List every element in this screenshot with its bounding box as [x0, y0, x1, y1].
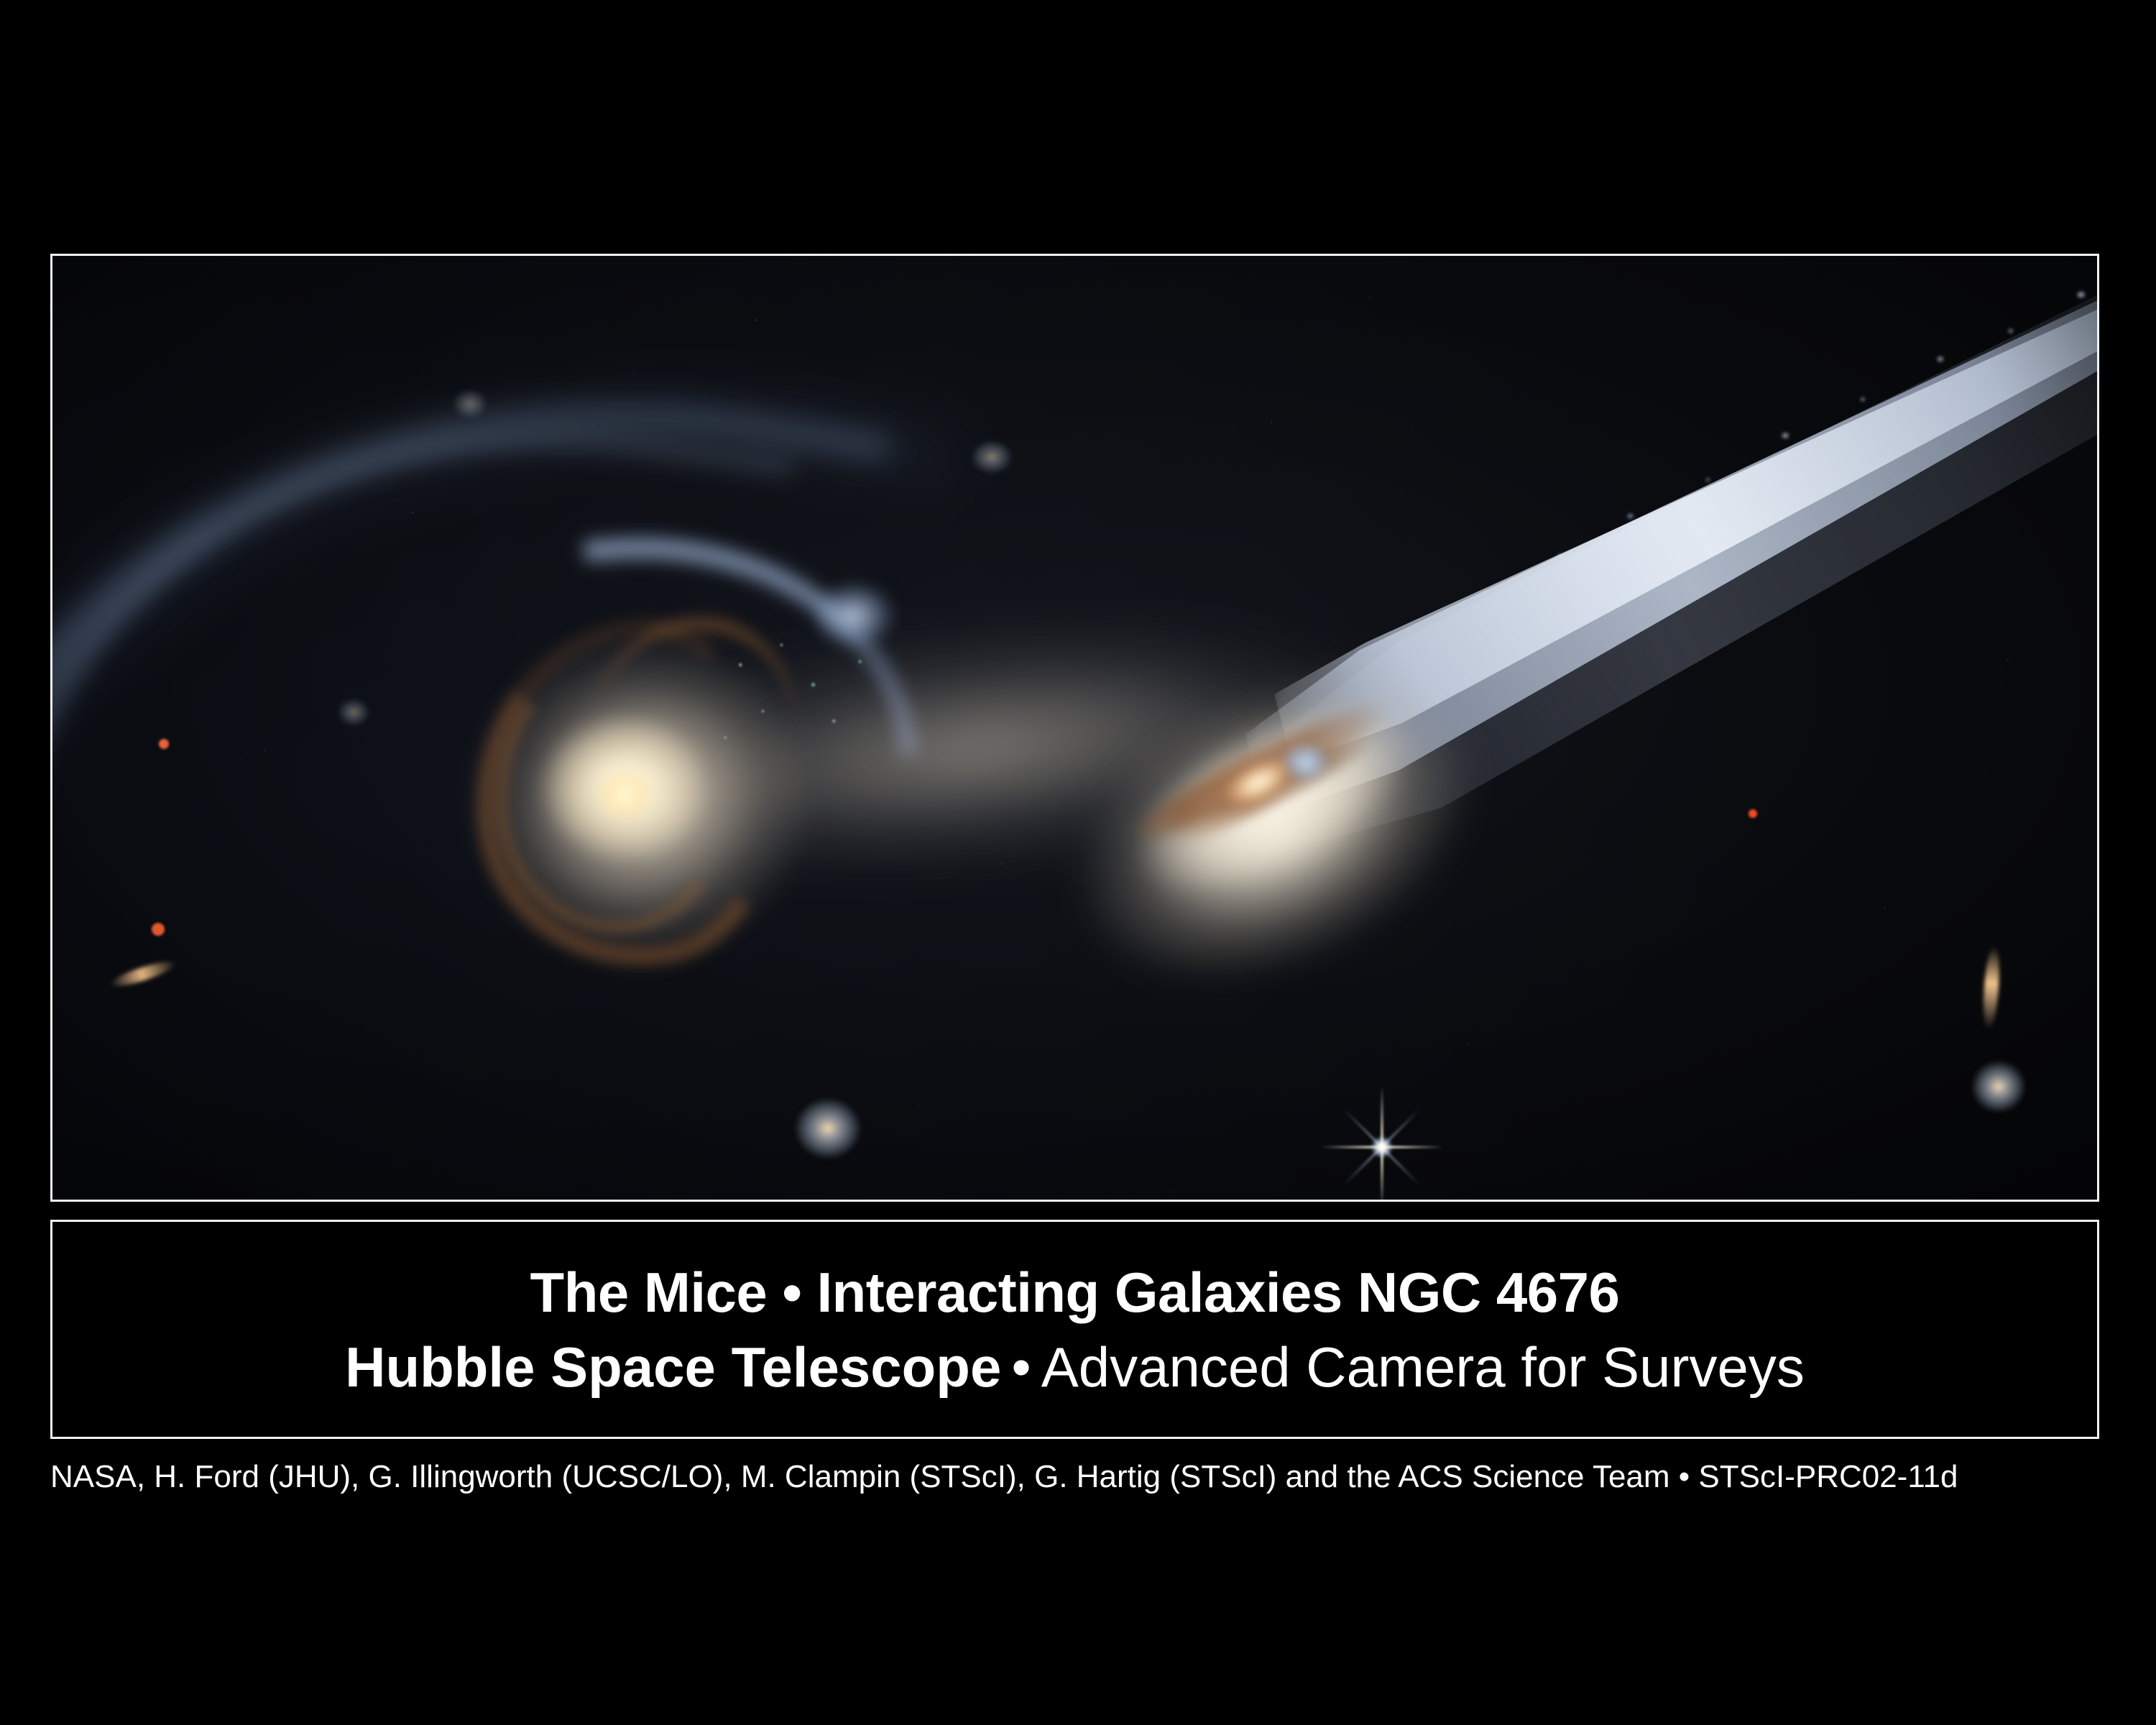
right-galaxy-disk — [1067, 634, 1482, 964]
caption-camera-name: Advanced Camera for Surveys — [1041, 1335, 1805, 1399]
left-galaxy-halo — [374, 539, 909, 1058]
left-galaxy-nucleus — [590, 765, 659, 825]
background-galaxy-mid-left — [333, 694, 374, 730]
right-galaxy-blue-cluster — [1277, 739, 1335, 786]
caption-box: The Mice • Interacting Galaxies NGC 4676… — [50, 1220, 2099, 1439]
northern-tidal-tail-core — [1274, 256, 2097, 809]
left-galaxy-blue-arm — [584, 518, 917, 777]
right-galaxy-halo — [967, 545, 1596, 1088]
right-galaxy-dust-lane — [1123, 689, 1398, 856]
northern-tidal-tail-halo — [1217, 256, 2097, 860]
western-tidal-tail — [52, 299, 890, 1099]
ngc-4676a-left-galaxy — [354, 486, 958, 1090]
caption-bullet-separator: • — [1001, 1339, 1041, 1395]
left-galaxy-blue-knot — [800, 572, 908, 658]
astronomy-image-frame — [50, 254, 2099, 1202]
diffraction-spike-diagonal-1 — [1343, 1109, 1420, 1186]
left-galaxy-dust-lane-inner — [481, 640, 747, 945]
right-galaxy-nucleus — [1210, 743, 1307, 822]
red-source-a — [159, 739, 169, 749]
tidal-bridge-core — [612, 615, 1347, 881]
western-tidal-tail-halo — [52, 263, 955, 1175]
background-spiral-galaxy-lower-right — [1964, 1054, 2033, 1120]
northern-tidal-tail-star-clusters — [1475, 256, 2097, 637]
background-galaxy-upper-left — [448, 385, 492, 423]
left-galaxy-dust-lane-outer — [453, 602, 801, 987]
background-spiral-galaxy-lower-left — [786, 1090, 870, 1167]
left-galaxy-bulge — [534, 701, 750, 888]
background-galaxy-upper-right — [965, 436, 1018, 479]
diffraction-spike-diagonal-2 — [1343, 1109, 1420, 1186]
starfield-faint-layer — [52, 256, 2097, 1200]
starfield-mid-layer — [52, 256, 2097, 1200]
right-galaxy-dust-lane-secondary — [1159, 728, 1381, 857]
left-galaxy-dust-lane-upper — [584, 604, 808, 792]
diffraction-spike-horizontal — [1320, 1146, 1444, 1149]
foreground-star-core — [1369, 1134, 1395, 1160]
northern-tidal-tail — [1245, 256, 2097, 831]
caption-title-line-2: Hubble Space Telescope•Advanced Camera f… — [345, 1339, 1805, 1395]
diffraction-spike-vertical — [1381, 1085, 1383, 1200]
background-edge-on-galaxy-left — [109, 957, 178, 991]
caption-instrument-name: Hubble Space Telescope — [345, 1335, 1001, 1399]
ngc-4676b-right-galaxy — [987, 601, 1634, 1061]
background-edge-on-galaxy-right — [1981, 945, 2001, 1029]
credit-line: NASA, H. Ford (JHU), G. Illingworth (UCS… — [50, 1460, 2106, 1494]
foreground-star-with-diffraction-spikes — [1339, 1104, 1425, 1190]
left-galaxy-star-forming-knots — [699, 615, 886, 781]
starfield-bright-layer — [52, 256, 2097, 1200]
western-tidal-tail-inner — [52, 359, 793, 1016]
red-source-b — [152, 923, 165, 936]
sky-background — [52, 256, 2097, 1200]
tidal-bridge-haze — [501, 554, 1452, 943]
caption-title-line-1: The Mice • Interacting Galaxies NGC 4676 — [530, 1264, 1620, 1320]
red-source-c — [1749, 809, 1757, 818]
poster-root: The Mice • Interacting Galaxies NGC 4676… — [0, 0, 2156, 1725]
